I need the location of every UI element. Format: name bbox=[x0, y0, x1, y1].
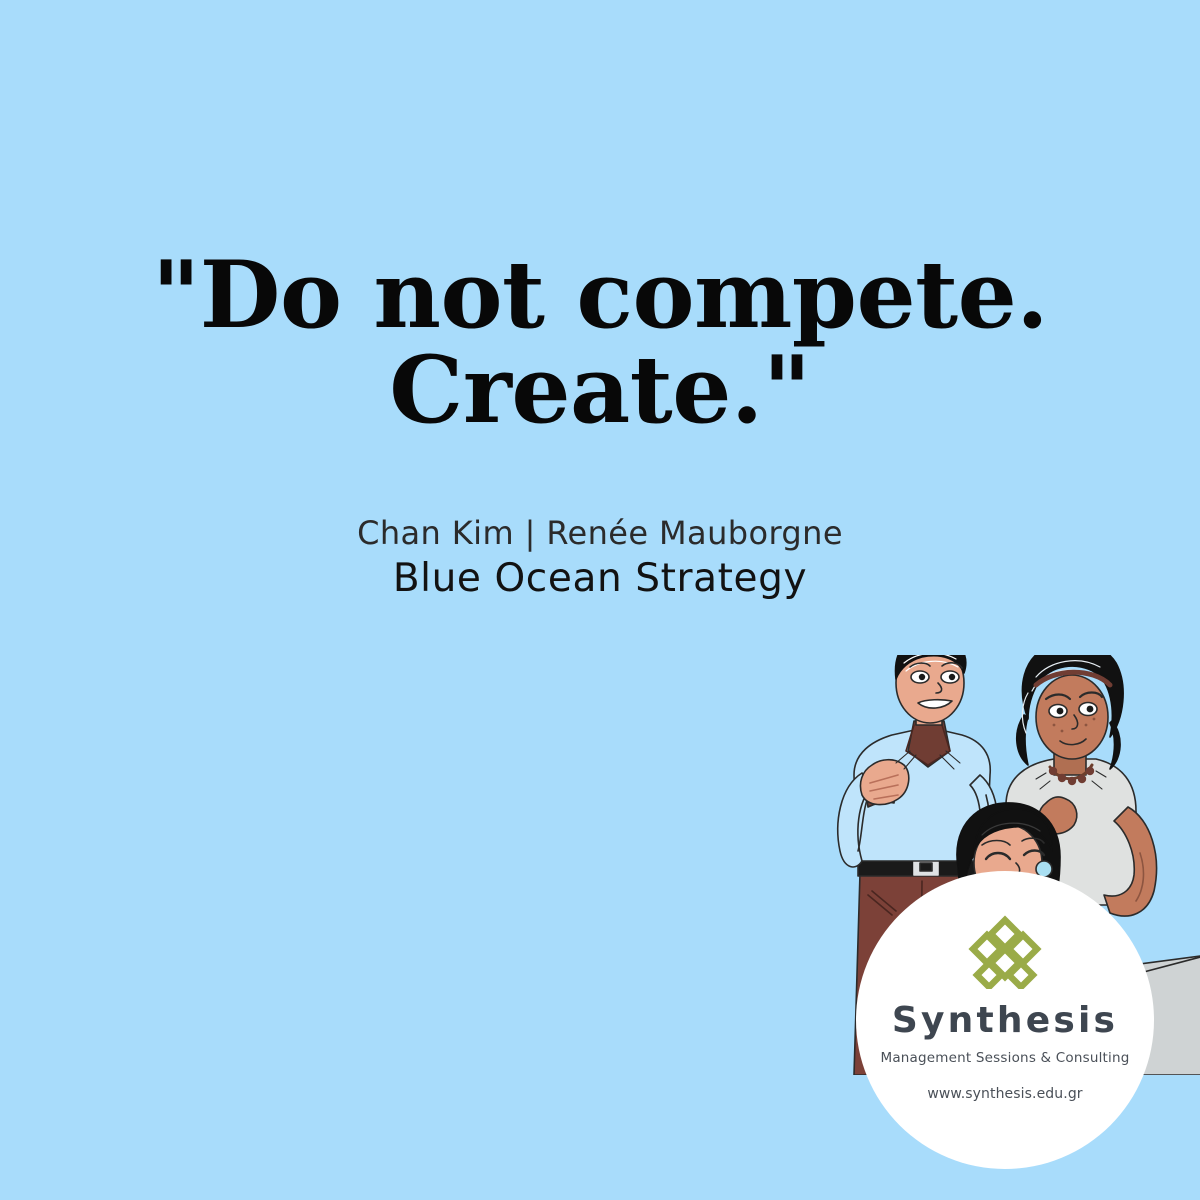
synthesis-diamond-lattice-icon bbox=[963, 915, 1047, 989]
logo-tagline: Management Sessions & Consulting bbox=[880, 1048, 1129, 1068]
quote-block: "Do not compete. Create." bbox=[0, 248, 1200, 436]
attribution-authors: Chan Kim | Renée Mauborgne bbox=[0, 512, 1200, 554]
synthesis-logo-badge[interactable]: Synthesis Management Sessions & Consulti… bbox=[856, 871, 1154, 1169]
attribution-source: Blue Ocean Strategy bbox=[0, 554, 1200, 604]
quote-line-2: Create." bbox=[0, 343, 1200, 436]
attribution-block: Chan Kim | Renée Mauborgne Blue Ocean St… bbox=[0, 512, 1200, 604]
logo-url[interactable]: www.synthesis.edu.gr bbox=[927, 1084, 1082, 1104]
logo-name: Synthesis bbox=[892, 1001, 1118, 1041]
quote-card: "Do not compete. Create." Chan Kim | Ren… bbox=[0, 0, 1200, 1200]
quote-line-1: "Do not compete. bbox=[0, 248, 1200, 341]
